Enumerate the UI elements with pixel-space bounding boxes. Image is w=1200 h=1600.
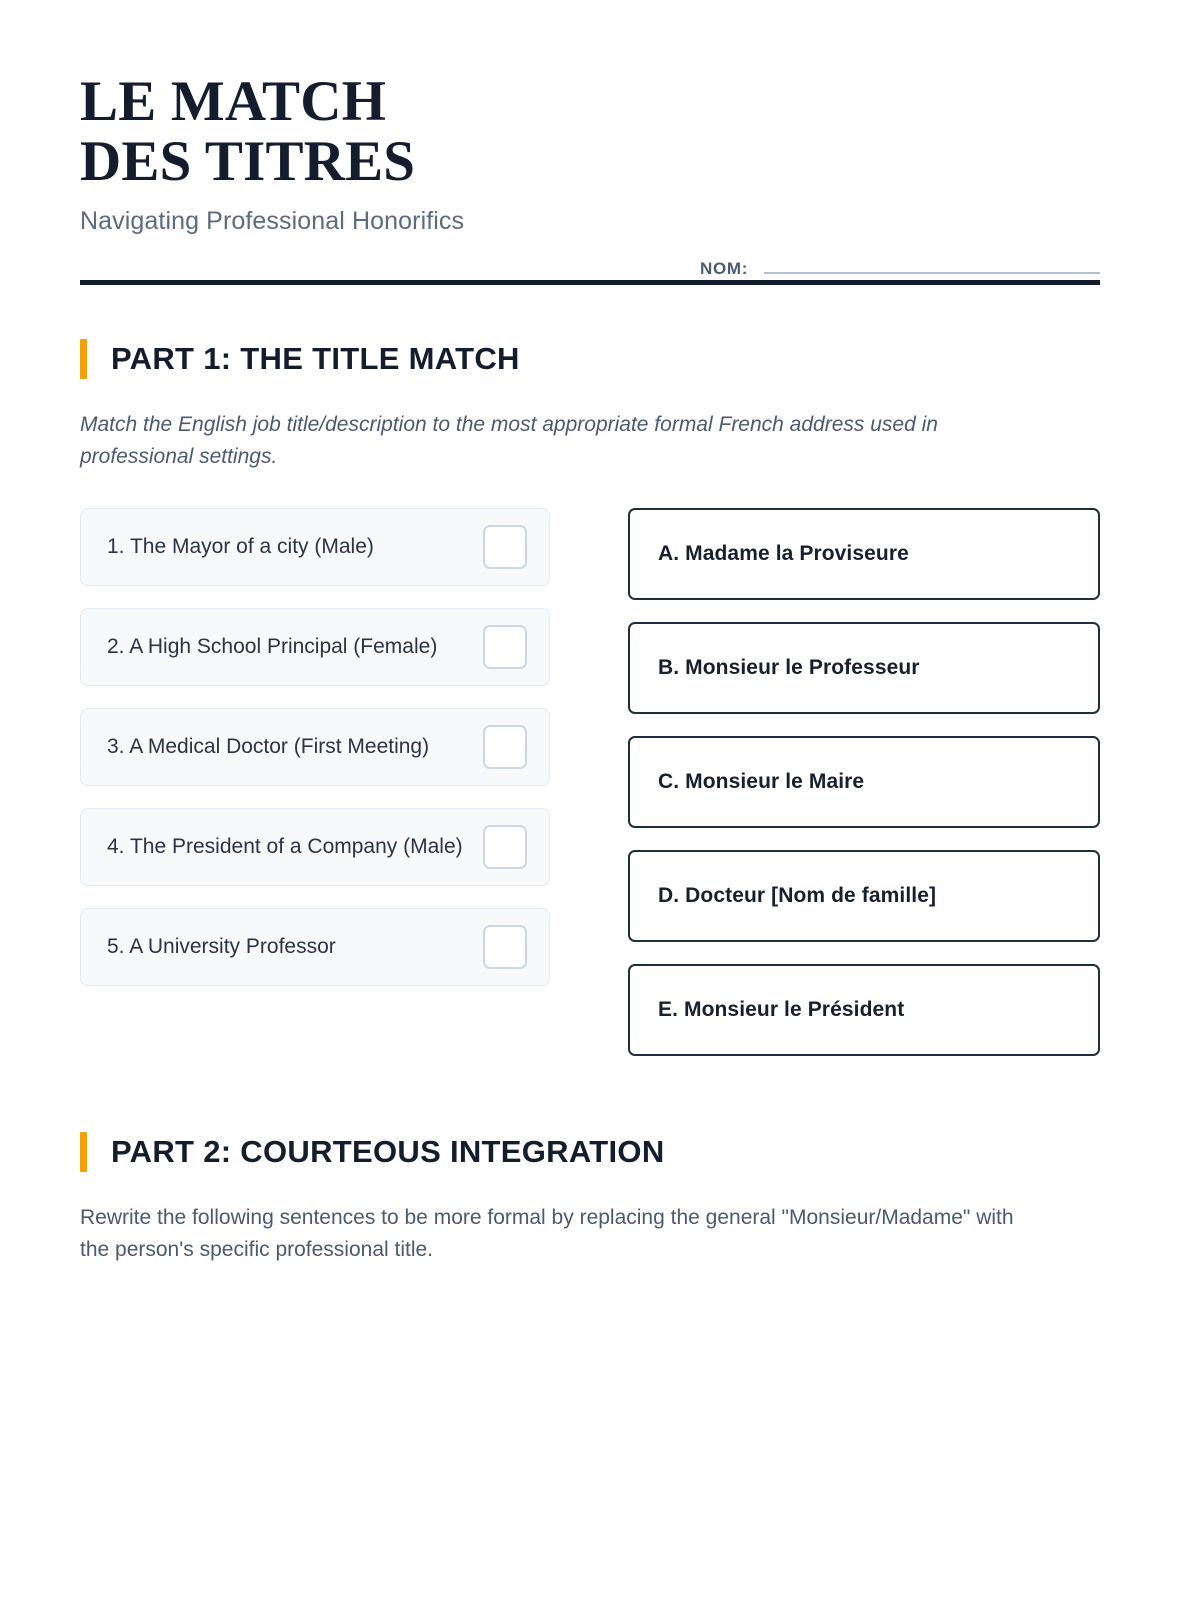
match-option-label: E. Monsieur le Président: [658, 998, 904, 1022]
match-items-column: 1. The Mayor of a city (Male) 2. A High …: [80, 508, 550, 1078]
part1-instructions: Match the English job title/description …: [80, 409, 1030, 474]
match-options-column: A. Madame la Proviseure B. Monsieur le P…: [628, 508, 1100, 1078]
match-item-label: 3. A Medical Doctor (First Meeting): [107, 732, 429, 762]
match-item[interactable]: 5. A University Professor: [80, 908, 550, 986]
name-field-label: NOM:: [700, 259, 748, 279]
match-option[interactable]: B. Monsieur le Professeur: [628, 622, 1100, 714]
match-option-label: A. Madame la Proviseure: [658, 542, 909, 566]
part1-title: PART 1: THE TITLE MATCH: [111, 341, 520, 377]
match-item[interactable]: 2. A High School Principal (Female): [80, 608, 550, 686]
part2-heading-row: PART 2: COURTEOUS INTEGRATION: [80, 1132, 1100, 1172]
match-option[interactable]: C. Monsieur le Maire: [628, 736, 1100, 828]
match-option[interactable]: E. Monsieur le Président: [628, 964, 1100, 1056]
accent-bar-icon: [80, 339, 87, 379]
part2-instructions: Rewrite the following sentences to be mo…: [80, 1202, 1030, 1267]
match-item[interactable]: 1. The Mayor of a city (Male): [80, 508, 550, 586]
answer-box[interactable]: [483, 525, 527, 569]
part2-title: PART 2: COURTEOUS INTEGRATION: [111, 1134, 665, 1170]
worksheet-page: LE MATCH DES TITRES Navigating Professio…: [0, 0, 1200, 1600]
match-item-label: 2. A High School Principal (Female): [107, 632, 437, 662]
match-option[interactable]: A. Madame la Proviseure: [628, 508, 1100, 600]
answer-box[interactable]: [483, 925, 527, 969]
accent-bar-icon: [80, 1132, 87, 1172]
match-option-label: B. Monsieur le Professeur: [658, 656, 920, 680]
name-field-input-line[interactable]: [764, 272, 1100, 274]
part1-heading-row: PART 1: THE TITLE MATCH: [80, 339, 1100, 379]
answer-box[interactable]: [483, 625, 527, 669]
title-block: LE MATCH DES TITRES Navigating Professio…: [80, 72, 510, 236]
name-field[interactable]: NOM:: [700, 259, 1100, 279]
match-option-label: D. Docteur [Nom de famille]: [658, 884, 936, 908]
match-item[interactable]: 4. The President of a Company (Male): [80, 808, 550, 886]
matching-exercise: 1. The Mayor of a city (Male) 2. A High …: [80, 508, 1100, 1078]
match-item[interactable]: 3. A Medical Doctor (First Meeting): [80, 708, 550, 786]
answer-box[interactable]: [483, 825, 527, 869]
match-item-label: 1. The Mayor of a city (Male): [107, 532, 374, 562]
match-option-label: C. Monsieur le Maire: [658, 770, 864, 794]
match-item-label: 4. The President of a Company (Male): [107, 832, 463, 862]
page-title: LE MATCH DES TITRES: [80, 72, 510, 193]
match-item-label: 5. A University Professor: [107, 932, 336, 962]
header-main-row: LE MATCH DES TITRES Navigating Professio…: [80, 72, 1100, 236]
header-divider: [80, 280, 1100, 285]
match-option[interactable]: D. Docteur [Nom de famille]: [628, 850, 1100, 942]
document-header: LE MATCH DES TITRES Navigating Professio…: [80, 72, 1100, 285]
answer-box[interactable]: [483, 725, 527, 769]
page-subtitle: Navigating Professional Honorifics: [80, 207, 510, 236]
